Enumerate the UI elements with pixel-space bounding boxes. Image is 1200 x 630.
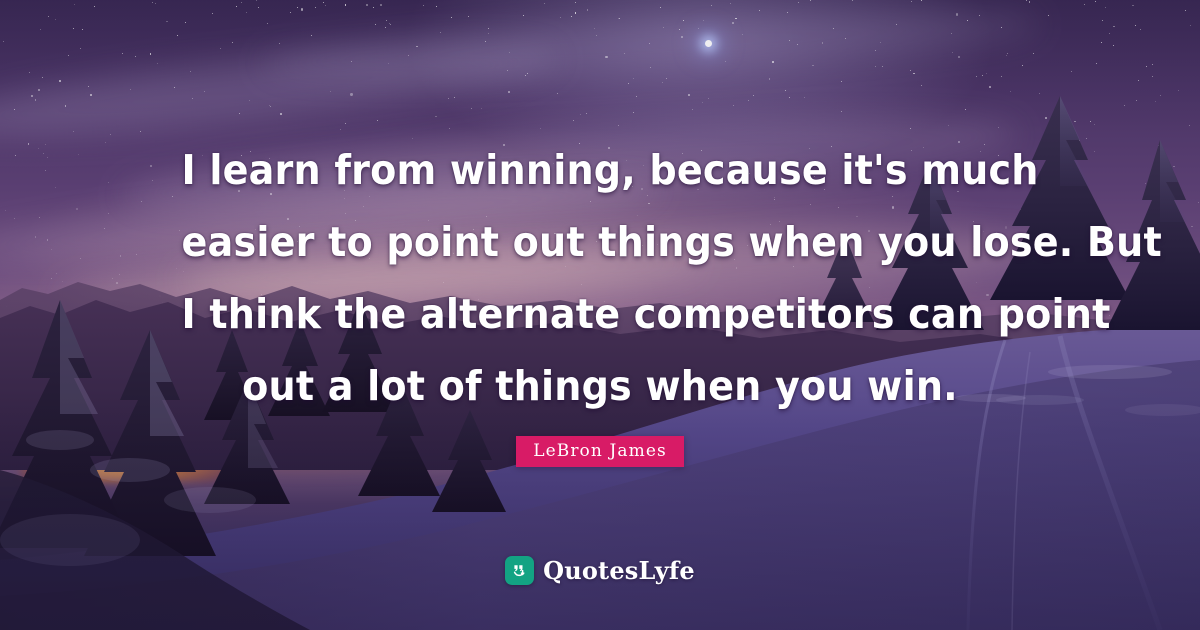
quote-marks-icon [505,556,534,585]
quote-line-2: easier to point out things when you lose… [182,206,1019,278]
brand-logo[interactable]: QuotesLyfe [0,556,1200,585]
quote-card: I learn from winning, because it's much … [0,0,1200,630]
quote-text: I learn from winning, because it's much … [42,134,1158,422]
quote-line-1: I learn from winning, because it's much [182,134,1019,206]
author-badge-container: LeBron James [0,436,1200,467]
author-name-badge[interactable]: LeBron James [516,436,684,467]
quote-line-4: out a lot of things when you win. [182,350,1019,422]
brand-name: QuotesLyfe [543,556,695,585]
quote-line-3: I think the alternate competitors can po… [182,278,1019,350]
